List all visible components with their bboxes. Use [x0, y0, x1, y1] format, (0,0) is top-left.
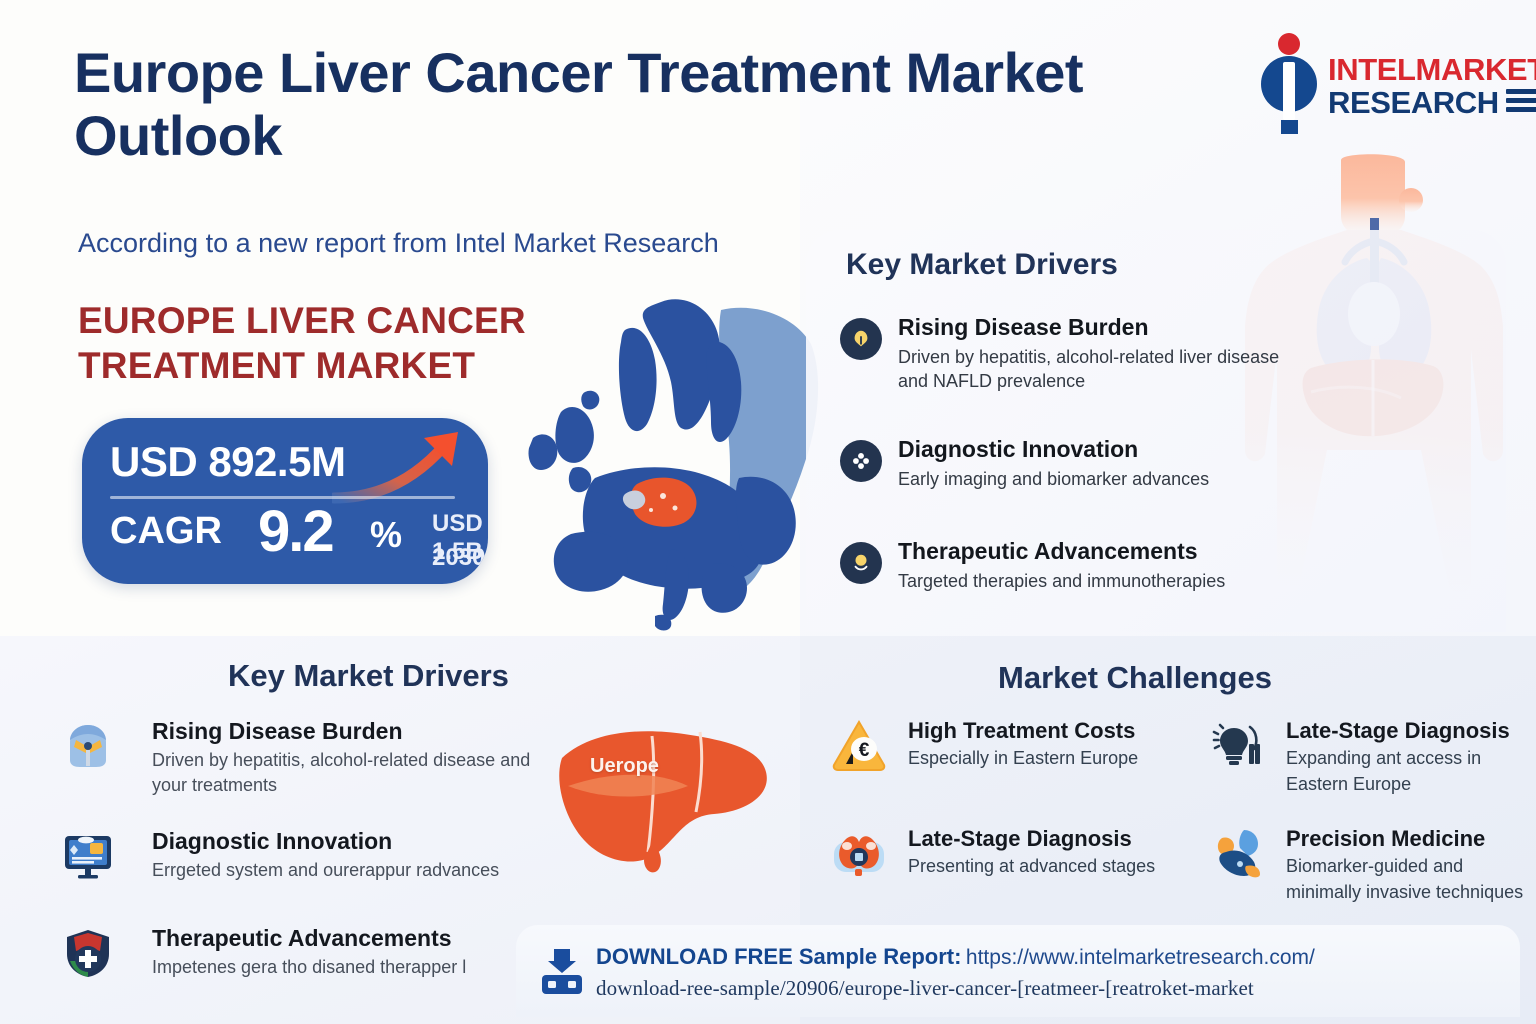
driver-item-diagnostic-innovation[interactable]: Diagnostic Innovation Early imaging and …	[840, 436, 1310, 491]
download-url-line-2[interactable]: download-ree-sample/20906/europe-liver-c…	[596, 973, 1496, 1003]
challenge-item-late-stage-diagnosis-left[interactable]: Late-Stage Diagnosis Presenting at advan…	[832, 826, 1162, 880]
cagr-value: 9.2	[258, 498, 333, 565]
logo-line-2-text: RESEARCH	[1328, 87, 1499, 120]
challenge-desc: Especially in Eastern Europe	[908, 746, 1162, 771]
bl-driver-head: Therapeutic Advancements	[152, 925, 532, 953]
bl-driver-text: Rising Disease Burden Driven by hepatiti…	[152, 718, 532, 799]
challenge-text: Late-Stage Diagnosis Presenting at advan…	[908, 826, 1162, 880]
challenge-item-precision-medicine[interactable]: Precision Medicine Biomarker-guided and …	[1210, 826, 1536, 905]
bl-driver-text: Therapeutic Advancements Impetenes gera …	[152, 925, 532, 980]
driver-text: Rising Disease Burden Driven by hepatiti…	[898, 314, 1310, 394]
download-label: DOWNLOAD FREE Sample Report:	[596, 944, 961, 969]
euro-warning-triangle-icon: €	[832, 718, 886, 772]
challenge-desc: Biomarker-guided and minimally invasive …	[1286, 854, 1536, 904]
challenge-head: Late-Stage Diagnosis	[908, 826, 1162, 852]
balloon-lightbulb-icon	[840, 318, 882, 360]
download-report-icon	[540, 947, 584, 995]
bl-driver-desc: Errgeted system and ourerappur radvances	[152, 858, 532, 884]
hamburger-icon	[1506, 89, 1536, 116]
lightbulb-dark-icon	[1210, 718, 1264, 772]
logo-line-2: RESEARCH	[1328, 87, 1536, 120]
driver-desc: Targeted therapies and immunotherapies	[898, 569, 1310, 594]
market-stat-card: USD 892.5M CAGR 9.2 % USD 1.5B 2030	[82, 418, 488, 584]
driver-text: Diagnostic Innovation Early imaging and …	[898, 436, 1310, 491]
driver-head: Rising Disease Burden	[898, 314, 1310, 342]
page-title: Europe Liver Cancer Treatment Market Out…	[74, 42, 1124, 167]
precision-abstract-icon	[1210, 826, 1264, 880]
therapy-hand-icon	[840, 542, 882, 584]
driver-item-rising-disease-burden[interactable]: Rising Disease Burden Driven by hepatiti…	[840, 314, 1310, 394]
download-cta-bar[interactable]: DOWNLOAD FREE Sample Report: https://www…	[516, 925, 1520, 1017]
infographic-canvas: Europe Liver Cancer Treatment Market Out…	[0, 0, 1536, 1024]
cells-cluster-icon	[840, 440, 882, 482]
challenge-item-high-treatment-costs[interactable]: € High Treatment Costs Especially in Eas…	[832, 718, 1162, 772]
challenge-desc: Presenting at advanced stages	[908, 854, 1162, 879]
cagr-percent-sign: %	[370, 514, 402, 556]
logo-wordmark: INTELMARKET RESEARCH	[1328, 54, 1536, 119]
bl-driver-desc: Driven by hepatitis, alcohol-related dis…	[152, 748, 532, 799]
brand-logo[interactable]: INTELMARKET RESEARCH	[1258, 28, 1520, 146]
bl-driver-item-rising-disease-burden[interactable]: Rising Disease Burden Driven by hepatiti…	[62, 718, 532, 799]
challenge-head: Late-Stage Diagnosis	[1286, 718, 1536, 744]
download-url-line-1[interactable]: https://www.intelmarketresearch.com/	[966, 946, 1315, 969]
bl-driver-item-diagnostic-innovation[interactable]: Diagnostic Innovation Errgeted system an…	[62, 828, 532, 883]
driver-text: Therapeutic Advancements Targeted therap…	[898, 538, 1310, 593]
driver-head: Therapeutic Advancements	[898, 538, 1310, 566]
logo-line-1: INTELMARKET	[1328, 54, 1536, 87]
market-value: USD 892.5M	[110, 438, 345, 486]
challenge-desc: Expanding ant access in Eastern Europe	[1286, 746, 1536, 796]
bl-driver-desc: Impetenes gera tho disaned therapper l	[152, 955, 532, 981]
cagr-label: CAGR	[110, 510, 222, 553]
bl-driver-item-therapeutic-advancements[interactable]: Therapeutic Advancements Impetenes gera …	[62, 925, 532, 980]
organ-scan-icon	[832, 826, 886, 880]
lightbulb-person-icon	[1258, 32, 1320, 140]
monitor-dashboard-icon	[62, 830, 114, 882]
bl-driver-text: Diagnostic Innovation Errgeted system an…	[152, 828, 532, 883]
download-line-1: DOWNLOAD FREE Sample Report: https://www…	[596, 941, 1496, 973]
medical-shield-icon	[62, 927, 114, 979]
driver-desc: Early imaging and biomarker advances	[898, 467, 1310, 492]
driver-head: Diagnostic Innovation	[898, 436, 1310, 464]
page-subtitle: According to a new report from Intel Mar…	[78, 228, 838, 259]
driver-item-therapeutic-advancements[interactable]: Therapeutic Advancements Targeted therap…	[840, 538, 1310, 593]
challenge-head: High Treatment Costs	[908, 718, 1162, 744]
challenge-text: High Treatment Costs Especially in Easte…	[908, 718, 1162, 772]
bl-driver-head: Rising Disease Burden	[152, 718, 532, 746]
bl-driver-head: Diagnostic Innovation	[152, 828, 532, 856]
challenge-text: Precision Medicine Biomarker-guided and …	[1286, 826, 1536, 905]
download-text: DOWNLOAD FREE Sample Report: https://www…	[596, 941, 1496, 1004]
challenge-item-late-stage-diagnosis-right[interactable]: Late-Stage Diagnosis Expanding ant acces…	[1210, 718, 1536, 797]
challenge-text: Late-Stage Diagnosis Expanding ant acces…	[1286, 718, 1536, 797]
liver-region-label: Uerope	[590, 755, 659, 778]
drivers-title: Key Market Drivers	[846, 248, 1118, 282]
challenge-head: Precision Medicine	[1286, 826, 1536, 852]
hooded-patient-icon	[62, 720, 114, 772]
key-market-drivers-card: Key Market Drivers Rising Disease Burden…	[806, 230, 1506, 632]
bottom-drivers-title: Key Market Drivers	[228, 658, 648, 694]
europe-map	[475, 282, 825, 634]
liver-illustration	[548, 710, 778, 890]
growth-arrow-icon	[332, 428, 482, 506]
svg-text:€: €	[859, 740, 870, 761]
driver-desc: Driven by hepatitis, alcohol-related liv…	[898, 345, 1310, 395]
challenges-title: Market Challenges	[998, 660, 1272, 696]
